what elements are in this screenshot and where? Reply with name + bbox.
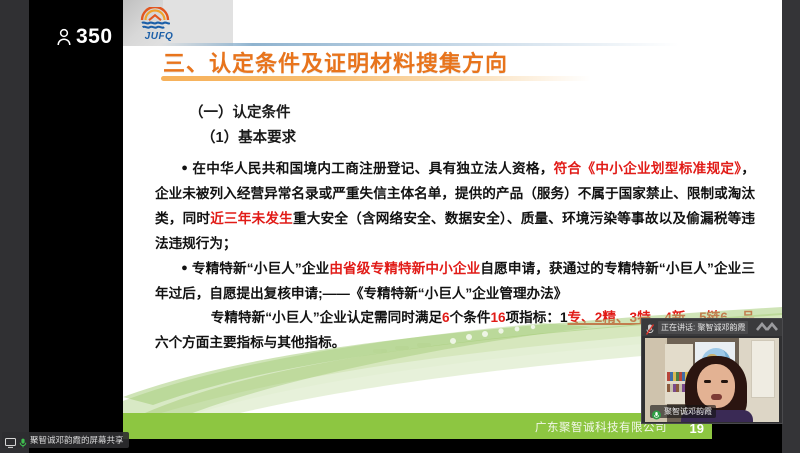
meeting-client-window: 350 JUFQ 三、认定条件及证明材料搜集方向	[0, 0, 800, 453]
p2-segment-2-highlight: 由省级专精特新中小企业	[329, 261, 480, 276]
client-left-chrome	[0, 0, 29, 453]
video-person-face	[697, 364, 735, 408]
pip-title-bar[interactable]: 正在讲话: 聚智诚邓韵霞	[642, 319, 782, 336]
slide-paragraph-2: ● 专精特新“小巨人”企业由省级专精特新中小企业自愿申请，获通过的专精特新“小巨…	[155, 256, 755, 306]
microphone-muted-icon	[646, 322, 654, 333]
speaking-name: 聚智诚邓韵霞	[697, 323, 745, 332]
screen-share-status-text: 聚智诚邓韵霞的屏幕共享	[30, 434, 124, 446]
video-person-eye-right	[721, 380, 728, 383]
self-view-video-feed: 聚智诚邓韵霞	[645, 338, 779, 422]
bullet-marker: ●	[181, 162, 188, 174]
video-person-mouth	[711, 394, 722, 400]
slide-paragraph-1: ● 在中华人民共和国境内工商注册登记、具有独立法人资格，符合《中小企业划型标准规…	[155, 156, 755, 256]
mountain-wave-logo-icon	[140, 7, 170, 33]
double-chevron-up-icon[interactable]	[756, 322, 778, 334]
self-view-video-panel[interactable]: 正在讲话: 聚智诚邓韵霞	[641, 318, 783, 424]
speaking-prefix: 正在讲话:	[661, 323, 695, 332]
microphone-icon	[652, 407, 661, 417]
title-underline-bar	[161, 76, 591, 81]
bullet-marker: ●	[181, 262, 188, 274]
p1-segment-4-highlight: 近三年未发生	[210, 211, 293, 226]
slide-title: 三、认定条件及证明材料搜集方向	[163, 46, 723, 78]
slide-heading-2: （1）基本要求	[201, 126, 296, 147]
p1-segment-2-highlight: 符合《中小企业划型标准规定》	[554, 161, 742, 176]
video-person-eye-left	[704, 380, 711, 383]
screen-share-status-chip[interactable]: 聚智诚邓韵霞的屏幕共享	[2, 432, 129, 448]
client-right-chrome	[782, 0, 800, 453]
p2-segment-1: 专精特新“小巨人”企业	[192, 261, 329, 276]
self-view-name-badge: 聚智诚邓韵霞	[650, 405, 716, 418]
p1-segment-1: 在中华人民共和国境内工商注册登记、具有独立法人资格，	[192, 161, 553, 176]
active-speaker-label: 正在讲话: 聚智诚邓韵霞	[658, 321, 748, 334]
participant-count-chip[interactable]: 350	[56, 26, 113, 47]
person-icon	[56, 28, 72, 46]
share-stage-letterbox	[123, 439, 782, 453]
microphone-icon	[19, 435, 27, 445]
logo-wordmark: JUFQ	[137, 31, 181, 42]
video-door	[751, 340, 775, 398]
self-view-name-text: 聚智诚邓韵霞	[664, 406, 712, 417]
participant-count-value: 350	[76, 26, 113, 47]
client-black-gutter	[29, 0, 123, 453]
slide-heading-1: （一）认定条件	[189, 101, 291, 122]
monitor-icon	[5, 435, 16, 445]
